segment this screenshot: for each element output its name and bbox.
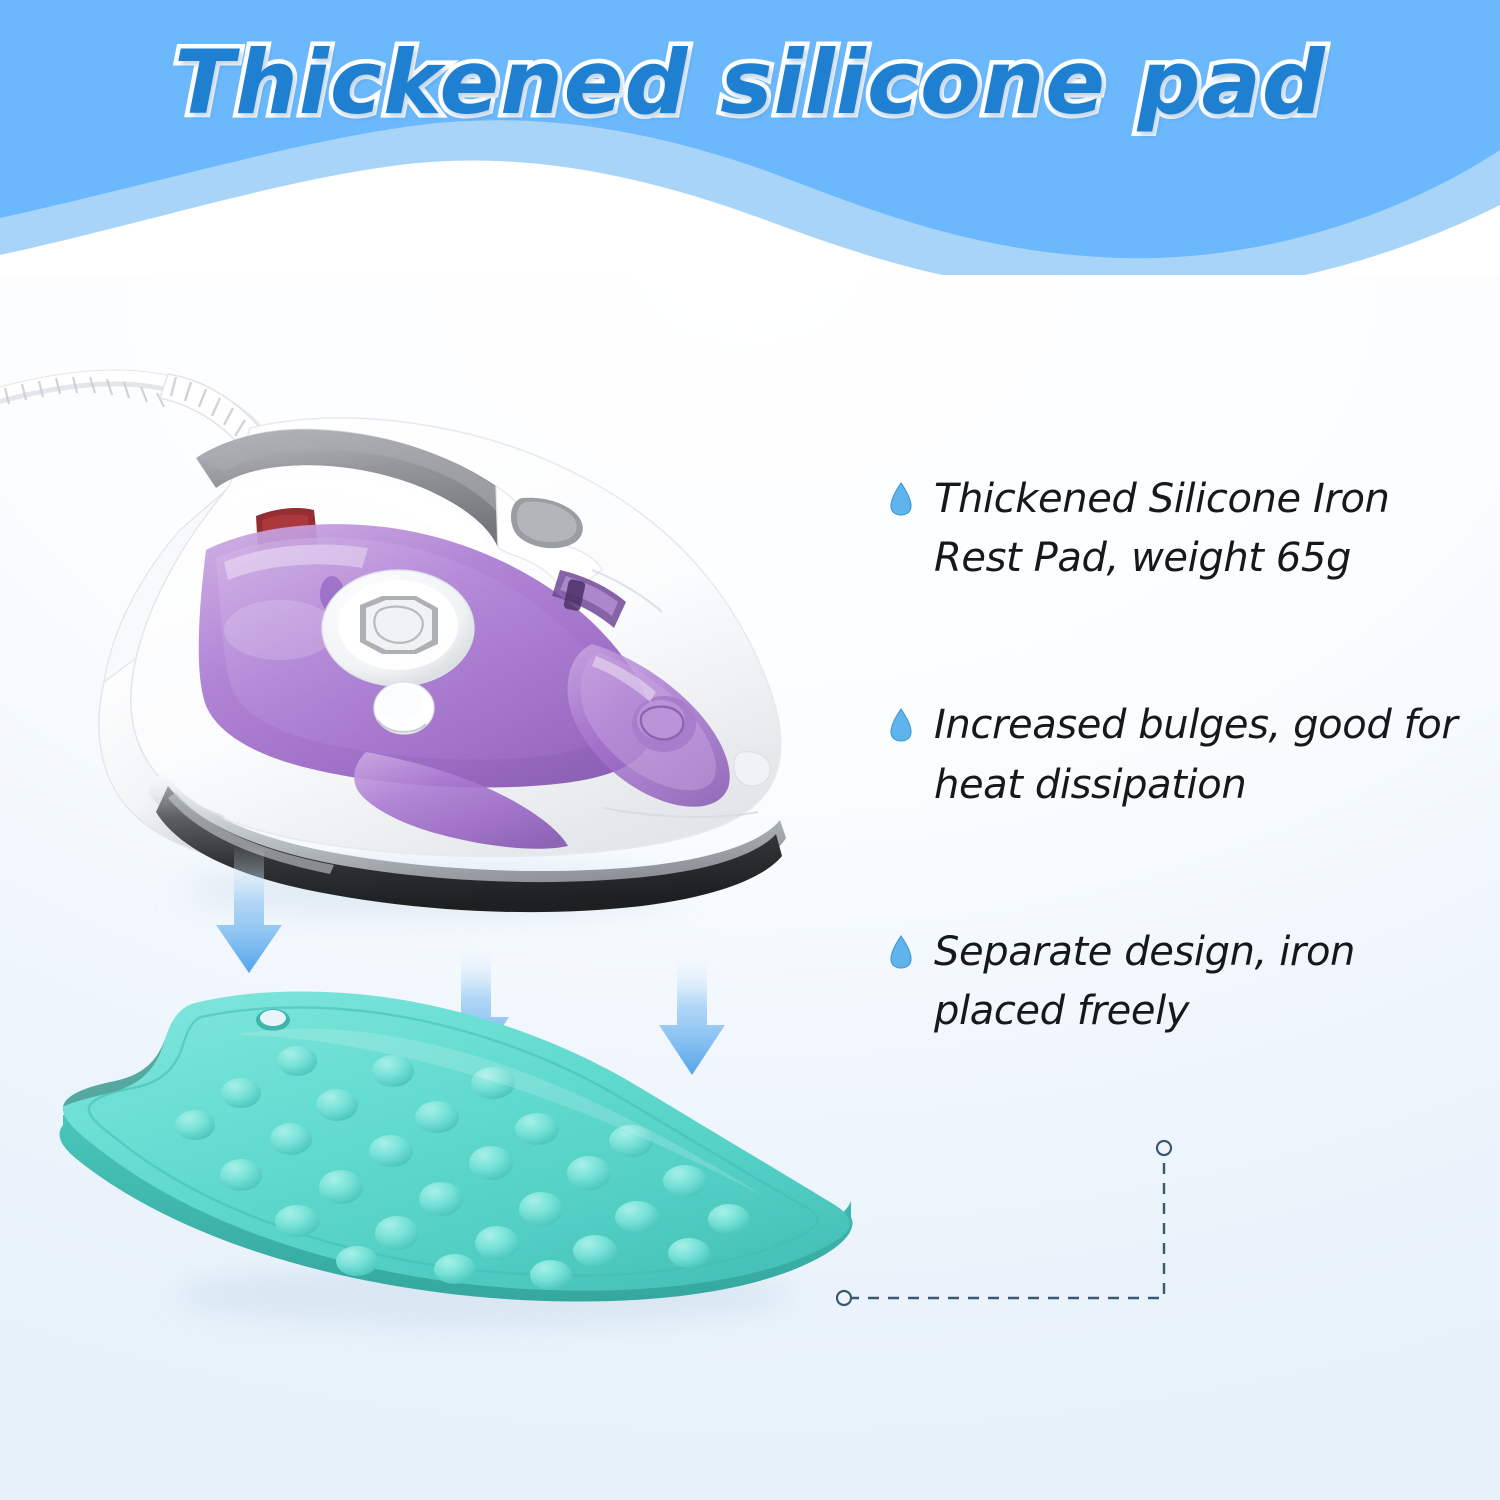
infographic-page: Thickened silicone pad [0, 0, 1500, 1500]
feature-item: Thickened Silicone Iron Rest Pad, weight… [890, 470, 1480, 588]
feature-text: Thickened Silicone Iron Rest Pad, weight… [934, 470, 1474, 588]
pad-hanging-hole [256, 1009, 290, 1031]
feature-item: Separate design, iron placed freely [890, 923, 1480, 1041]
silicone-pad-illustration [45, 965, 905, 1345]
callout-endpoint-left [837, 1291, 851, 1305]
temperature-dial[interactable] [322, 570, 474, 686]
iron-drop-bullet-icon [890, 482, 912, 516]
spray-button[interactable] [374, 682, 434, 734]
header-wave-graphic [0, 0, 1500, 275]
feature-text: Increased bulges, good for heat dissipat… [934, 696, 1474, 814]
feature-list: Thickened Silicone Iron Rest Pad, weight… [890, 470, 1480, 1041]
header-banner: Thickened silicone pad [0, 0, 1500, 275]
callout-endpoint-top [1157, 1141, 1171, 1155]
dimension-callout [820, 1120, 1240, 1320]
placement-arrow-1 [216, 845, 282, 973]
feature-item: Increased bulges, good for heat dissipat… [890, 696, 1480, 814]
feature-text: Separate design, iron placed freely [934, 923, 1474, 1041]
iron-drop-bullet-icon [890, 708, 912, 742]
iron-drop-bullet-icon [890, 935, 912, 969]
power-cord [0, 374, 262, 452]
side-button[interactable] [734, 752, 770, 786]
pad-surface [63, 991, 850, 1290]
tank-highlight-mid [224, 600, 336, 660]
callout-dashed-line [848, 1152, 1164, 1298]
